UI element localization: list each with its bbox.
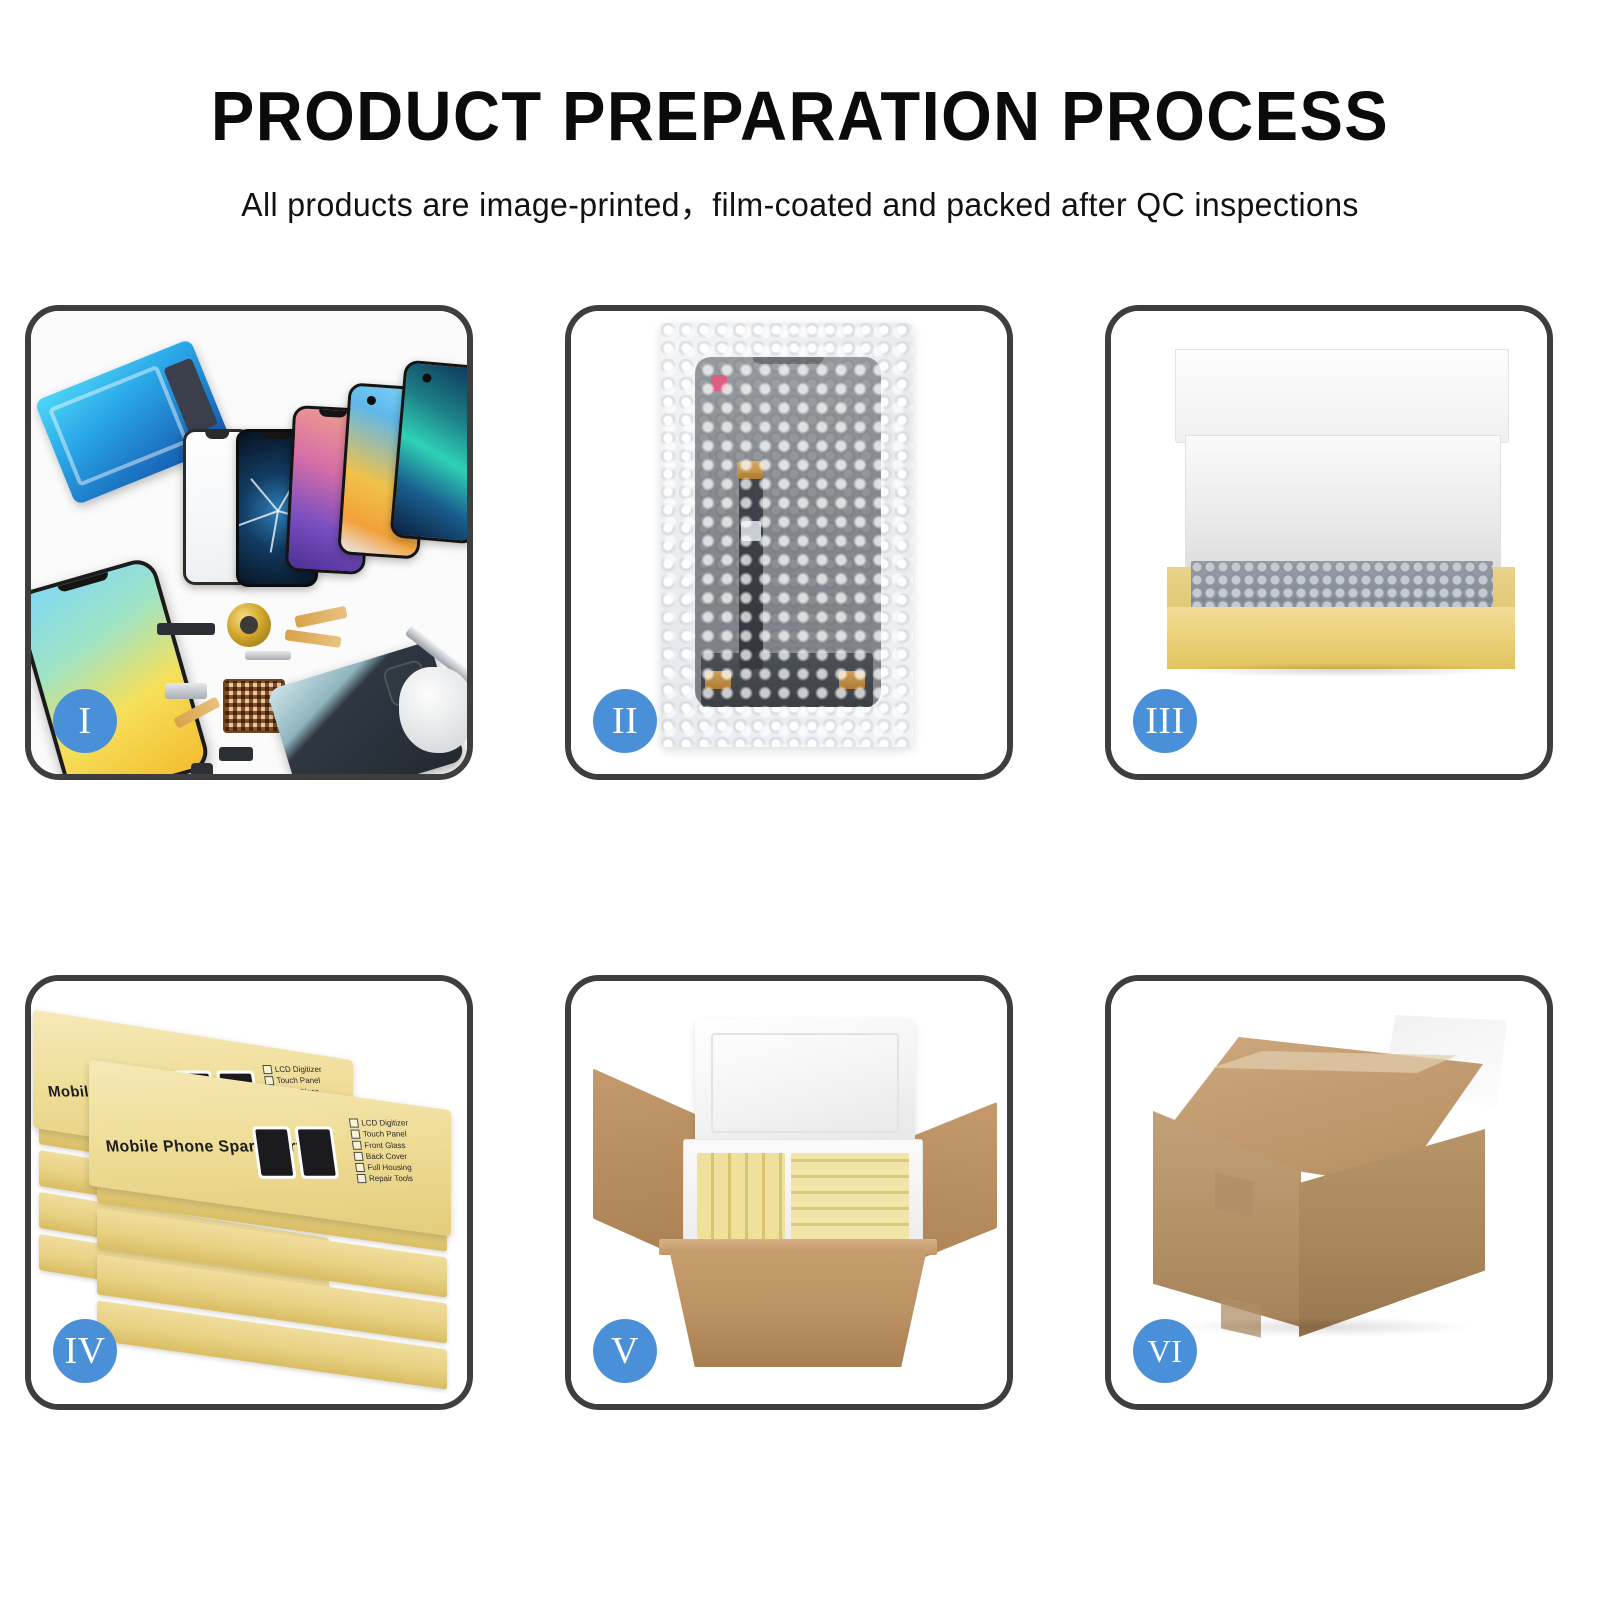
step-badge-4: IV: [53, 1319, 117, 1383]
retail-box-product-thumbnails: [252, 1126, 339, 1179]
gloved-hand: [399, 667, 467, 753]
crack-line: [250, 478, 279, 511]
flex-connector: [705, 671, 731, 689]
step-badge-2: II: [593, 689, 657, 753]
driver-ic-chip: [741, 521, 761, 541]
step-badge-6: VI: [1133, 1319, 1197, 1383]
step-panel-5[interactable]: V: [565, 975, 1013, 1410]
notch-shape: [319, 409, 347, 417]
yellow-cracked-phone: [31, 555, 212, 774]
vibration-motor-part: [219, 747, 253, 761]
foam-cooler-lid: [695, 1019, 915, 1147]
speaker-mesh-part: [157, 623, 215, 635]
gold-boxes-row-right: [791, 1153, 909, 1239]
checklist-item: LCD Digitizer: [349, 1119, 409, 1128]
step-badge-3: III: [1133, 689, 1197, 753]
camera-hole-punch: [367, 396, 377, 406]
step-panel-2[interactable]: II: [565, 305, 1013, 780]
white-box-lid: [1175, 349, 1509, 443]
bubble-wrap-sheet: [661, 323, 913, 747]
camera-hole-punch: [422, 373, 432, 383]
crack-line: [270, 511, 279, 553]
drop-shadow: [1181, 663, 1503, 677]
gold-box-front-panel: [1167, 607, 1515, 669]
step-panel-3[interactable]: III: [1105, 305, 1553, 780]
phone-thumbnail: [252, 1126, 297, 1179]
display-flex-cable: [739, 473, 763, 669]
checklist-item: Back Cover: [353, 1152, 413, 1161]
crack-line: [238, 510, 278, 526]
notch-shape: [263, 432, 292, 439]
process-step-grid: I: [0, 0, 1600, 1600]
retail-box-checklist: LCD Digitizer Touch Panel Front Glass Ba…: [349, 1119, 416, 1184]
infographic-page: PRODUCT PREPARATION PROCESS All products…: [0, 0, 1600, 1600]
carton-front-panel: [669, 1249, 927, 1367]
flex-connector: [839, 671, 865, 689]
step-panel-6[interactable]: VI: [1105, 975, 1553, 1410]
metal-bracket-part: [165, 683, 207, 699]
checklist-item: Repair Tools: [356, 1174, 416, 1183]
gold-boxes-row-left: [697, 1153, 785, 1239]
step-panel-1[interactable]: I: [25, 305, 473, 780]
phone-thumbnail: [294, 1126, 339, 1179]
checklist-item: Touch Panel: [350, 1130, 410, 1139]
checklist-item: Full Housing: [355, 1163, 415, 1172]
white-inner-liner: [1185, 435, 1501, 567]
flex-cable-part: [294, 606, 347, 629]
notch-shape: [753, 357, 824, 364]
flex-cable-part: [285, 629, 342, 648]
grey-bubble-cushioning: [1191, 561, 1493, 613]
pink-qc-sticker: [711, 375, 727, 391]
wireless-charging-coil-part: [227, 603, 271, 647]
step-badge-1: I: [53, 689, 117, 753]
earpiece-speaker-part: [191, 763, 213, 774]
flex-connector: [737, 461, 763, 479]
checklist-item: Front Glass: [352, 1141, 412, 1150]
notch-shape: [205, 432, 229, 439]
checklist-item: Touch Panel: [264, 1076, 324, 1085]
step-panel-4[interactable]: Mobile Phone Spare Parts LCD Digitizer T…: [25, 975, 473, 1410]
antenna-flex-part: [245, 651, 291, 660]
step-badge-5: V: [593, 1319, 657, 1383]
drop-shadow: [1175, 1317, 1475, 1337]
checklist-item: LCD Digitizer: [262, 1065, 322, 1074]
notch-shape: [58, 572, 110, 593]
